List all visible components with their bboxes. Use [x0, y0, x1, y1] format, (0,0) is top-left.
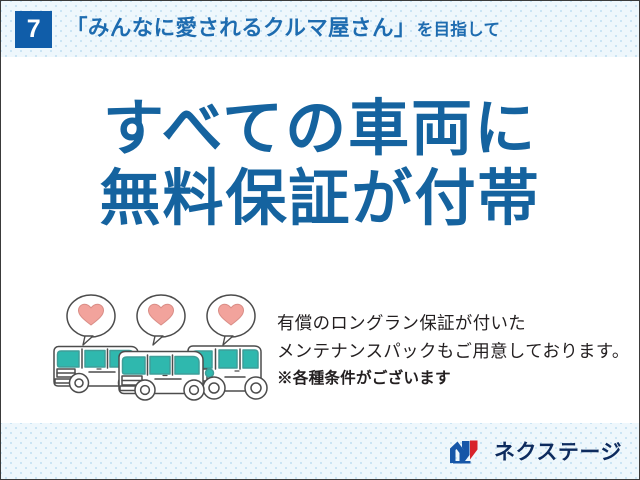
- brand-logo: ネクステージ: [449, 437, 622, 467]
- body-copy-line-1: 有償のロングラン保証が付いた: [277, 309, 630, 337]
- heart-speech-bubble-3: [207, 295, 255, 345]
- brand-logo-text: ネクステージ: [494, 442, 622, 463]
- header-title-main: 「みんなに愛されるクルマ屋さん」: [66, 18, 416, 40]
- three-cars-with-heart-bubbles-illustration: [49, 289, 273, 407]
- header: 7 「みんなに愛されるクルマ屋さん」 を目指して: [1, 1, 639, 57]
- header-title: 「みんなに愛されるクルマ屋さん」 を目指して: [66, 18, 500, 40]
- body-copy-line-2: メンテナンスパックもご用意しております。: [277, 337, 630, 365]
- heart-speech-bubble-1: [67, 295, 115, 345]
- section-number-badge: 7: [15, 11, 52, 48]
- nextage-n-logo-icon: [449, 439, 487, 465]
- heart-speech-bubble-2: [137, 295, 185, 345]
- middle-content: 有償のロングラン保証が付いた メンテナンスパックもご用意しております。 ※各種条…: [1, 289, 639, 407]
- body-copy: 有償のロングラン保証が付いた メンテナンスパックもご用意しております。 ※各種条…: [277, 289, 630, 392]
- headline-line-2: 無料保証が付帯: [1, 167, 639, 230]
- promo-slide: 7 「みんなに愛されるクルマ屋さん」 を目指して すべての車両に 無料保証が付帯: [0, 0, 640, 480]
- car-minivan-center: [119, 352, 204, 401]
- header-title-suffix: を目指して: [417, 22, 501, 39]
- body-copy-note: ※各種条件がございます: [277, 366, 630, 391]
- headline: すべての車両に 無料保証が付帯: [1, 97, 639, 230]
- headline-line-1: すべての車両に: [1, 97, 639, 160]
